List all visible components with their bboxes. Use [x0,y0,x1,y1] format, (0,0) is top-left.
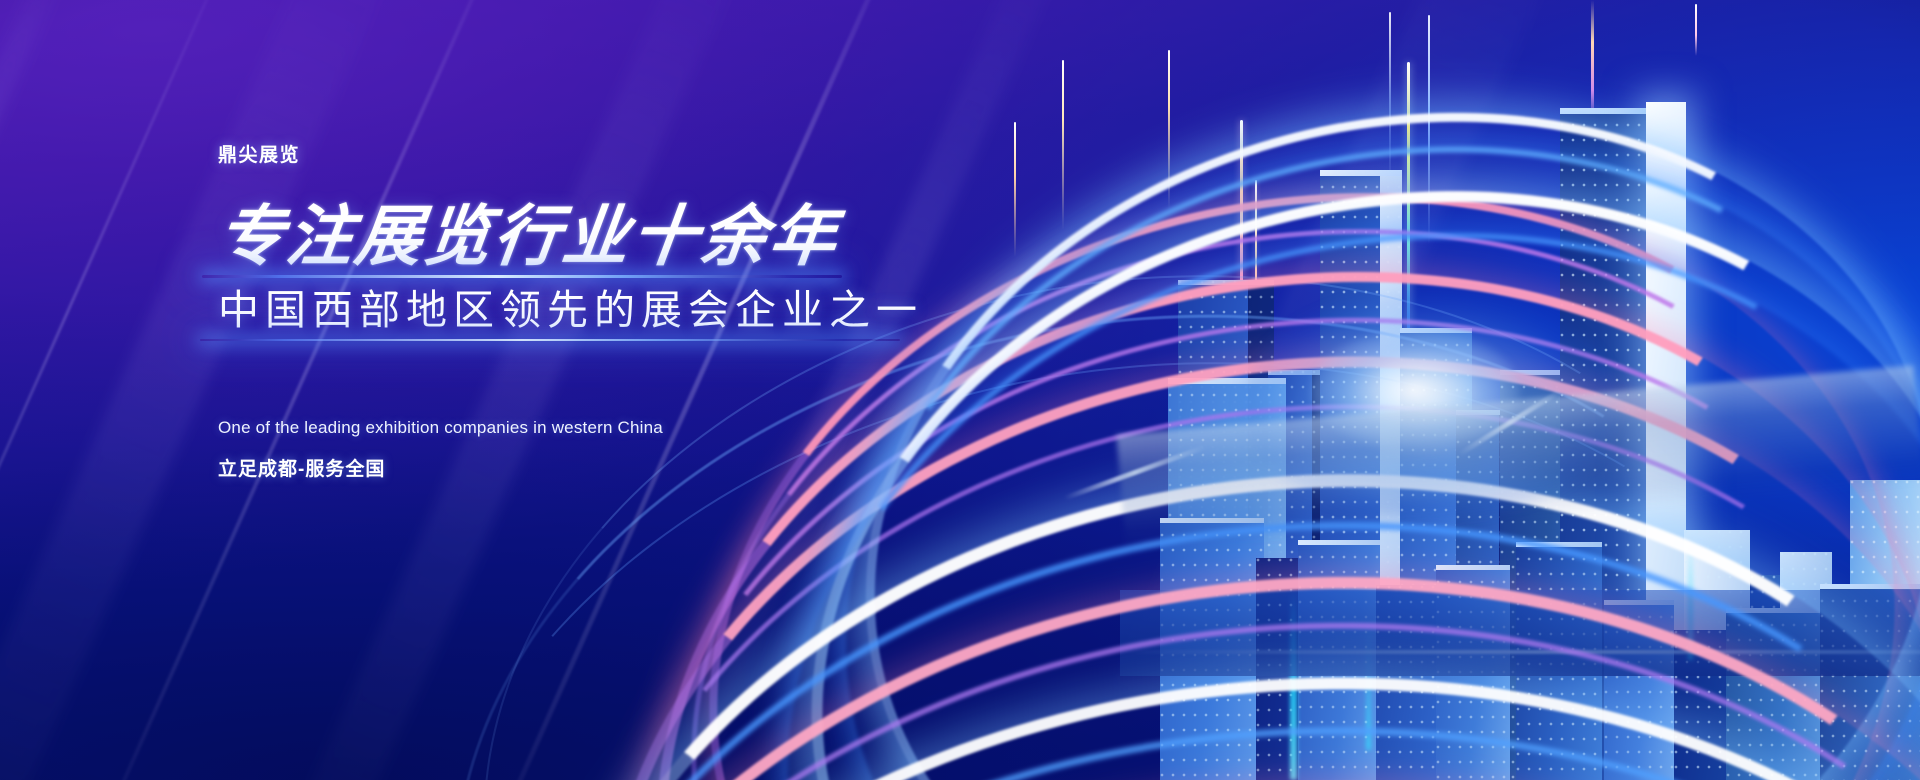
headline-glow-underline [202,275,842,278]
subtitle-group: 中国西部地区领先的展会企业之一 [218,287,1118,334]
page-title: 专注展览行业十余年 [214,203,1122,269]
english-tagline: One of the leading exhibition companies … [218,418,1118,438]
promo-banner: 鼎尖展览 专注展览行业十余年 中国西部地区领先的展会企业之一 One of th… [0,0,1920,780]
banner-text-block: 鼎尖展览 专注展览行业十余年 中国西部地区领先的展会企业之一 One of th… [218,140,1118,481]
subtitle: 中国西部地区领先的展会企业之一 [218,287,1118,334]
brand-name: 鼎尖展览 [218,140,1118,167]
chinese-tagline: 立足成都-服务全国 [218,454,1118,481]
subtitle-glow-underline [200,339,900,341]
headline-group: 专注展览行业十余年 [218,203,1118,269]
